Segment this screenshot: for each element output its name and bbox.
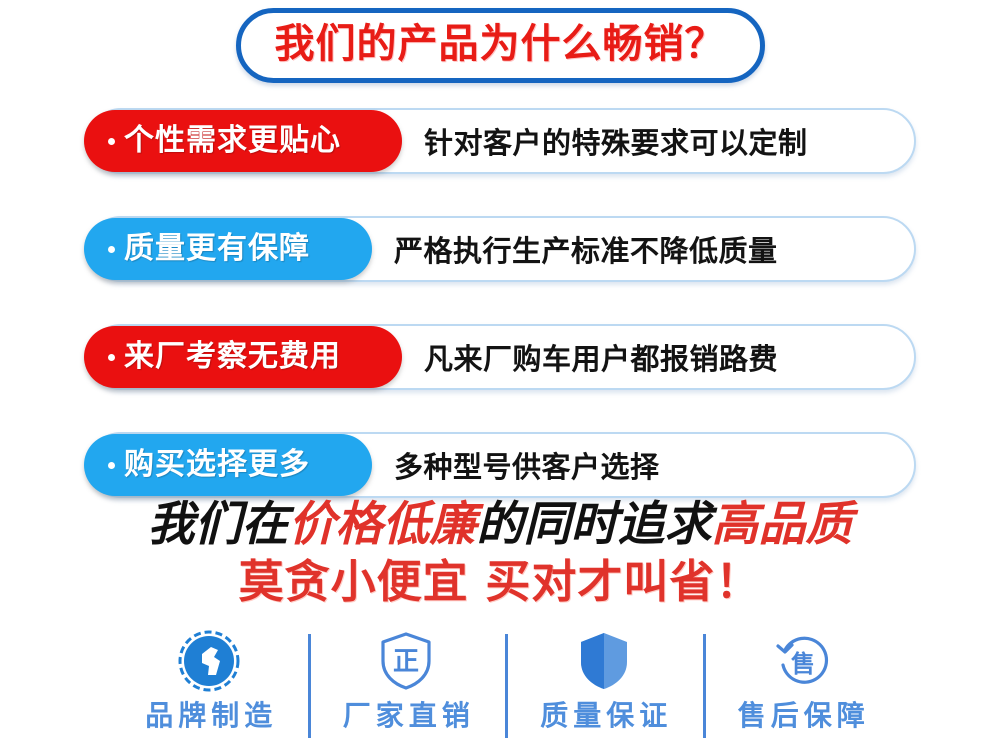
feature-row: 购买选择更多 多种型号供客户选择	[88, 432, 916, 498]
badge-label: 售后保障	[733, 696, 870, 736]
slogan-text-part2: 的同时追求	[477, 497, 712, 552]
feature-pill-label: 个性需求更贴心	[124, 110, 341, 172]
slogan-text-part1: 我们在	[148, 497, 289, 552]
page-title: 我们的产品为什么畅销？	[275, 19, 726, 69]
refresh-shou-icon: 售	[770, 628, 832, 694]
feature-row: 个性需求更贴心 针对客户的特殊要求可以定制	[88, 108, 916, 174]
page-title-pill: 我们的产品为什么畅销？	[236, 8, 765, 83]
feature-description: 多种型号供客户选择	[394, 444, 660, 486]
feature-list: 个性需求更贴心 针对客户的特殊要求可以定制 质量更有保障 严格执行生产标准不降低…	[88, 108, 916, 540]
feature-description: 凡来厂购车用户都报销路费	[424, 336, 778, 378]
shield-zheng-icon: 正	[377, 628, 435, 694]
feature-row: 来厂考察无费用 凡来厂购车用户都报销路费	[88, 324, 916, 390]
badge-after-sales: 售 售后保障	[703, 628, 901, 736]
badge-label: 厂家直销	[338, 696, 475, 736]
badge-label: 品牌制造	[140, 696, 277, 736]
feature-pill-4: 购买选择更多	[84, 434, 372, 496]
feature-pill-label: 来厂考察无费用	[124, 326, 341, 388]
bullet-dot-icon	[108, 354, 115, 361]
slogan-highlight-1: 价格低廉	[289, 497, 477, 552]
badge-label: 质量保证	[535, 696, 672, 736]
feature-description: 严格执行生产标准不降低质量	[394, 228, 778, 270]
bullet-dot-icon	[108, 246, 115, 253]
badge-factory-direct: 正 厂家直销	[308, 628, 506, 736]
badge-quality-guarantee: 质量保证	[505, 628, 703, 736]
bullet-dot-icon	[108, 138, 115, 145]
globe-person-icon	[178, 628, 240, 694]
page-title-container: 我们的产品为什么畅销？	[0, 8, 1000, 83]
feature-pill-label: 购买选择更多	[124, 434, 310, 496]
badge-row: 品牌制造 正 厂家直销 质量保证	[110, 628, 900, 736]
promo-page: 我们的产品为什么畅销？ 个性需求更贴心 针对客户的特殊要求可以定制 质量更有保障…	[0, 0, 1000, 750]
slogan-line-1: 我们在价格低廉的同时追求高品质	[0, 496, 1000, 554]
feature-description: 针对客户的特殊要求可以定制	[424, 120, 808, 162]
slogan-line-2: 莫贪小便宜 买对才叫省！	[0, 554, 1000, 610]
bullet-dot-icon	[108, 462, 115, 469]
slogan-highlight-2: 高品质	[712, 497, 853, 552]
feature-pill-1: 个性需求更贴心	[84, 110, 402, 172]
feature-pill-3: 来厂考察无费用	[84, 326, 402, 388]
svg-text:售: 售	[791, 650, 815, 678]
slogan-block: 我们在价格低廉的同时追求高品质 莫贪小便宜 买对才叫省！	[0, 496, 1000, 610]
badge-brand-manufacturing: 品牌制造	[110, 628, 308, 736]
svg-text:正: 正	[393, 647, 419, 677]
feature-row: 质量更有保障 严格执行生产标准不降低质量	[88, 216, 916, 282]
feature-pill-2: 质量更有保障	[84, 218, 372, 280]
shield-solid-icon	[576, 628, 632, 694]
feature-pill-label: 质量更有保障	[124, 218, 310, 280]
